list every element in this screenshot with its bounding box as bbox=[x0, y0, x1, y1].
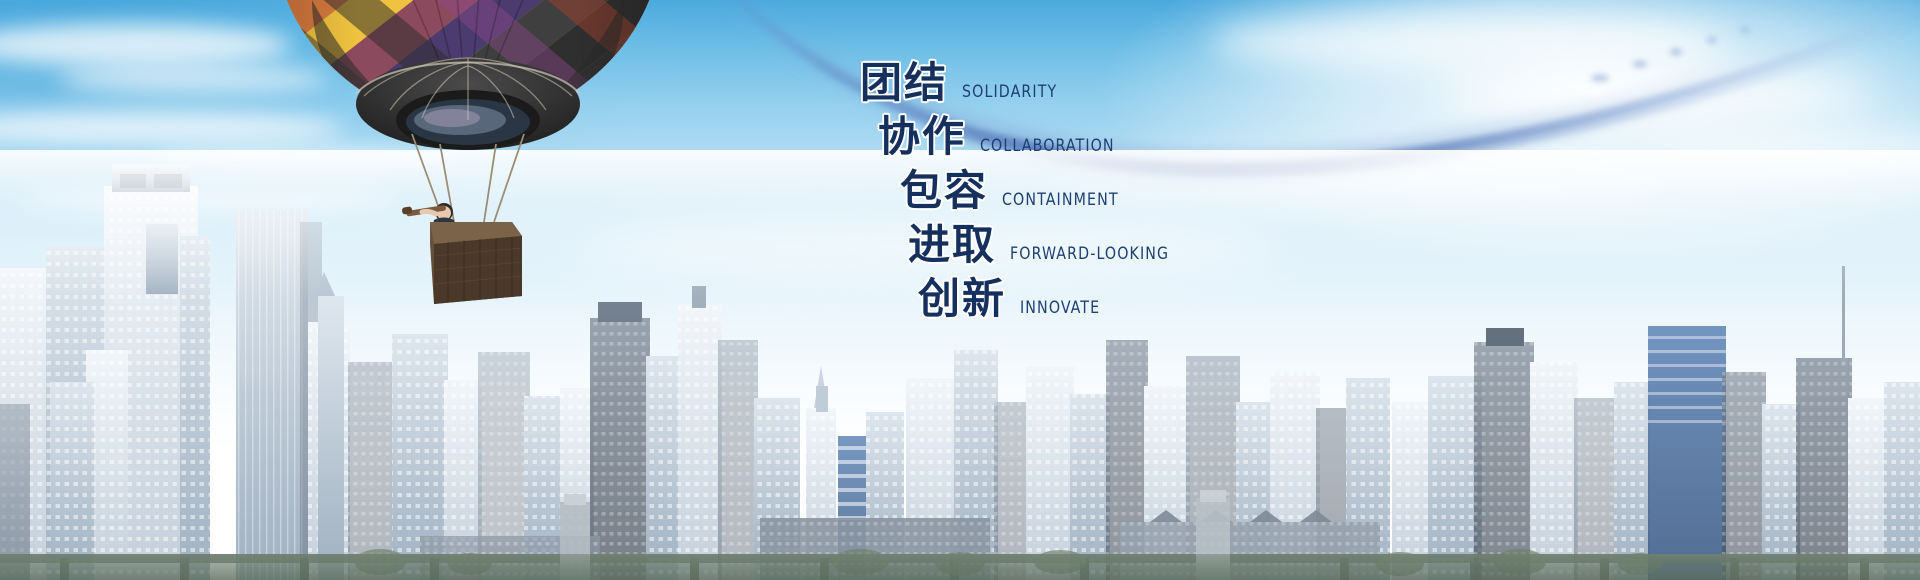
balloon-basket bbox=[430, 222, 522, 304]
slogan-en: INNOVATE bbox=[1020, 298, 1100, 318]
balloon-mouth bbox=[356, 58, 580, 150]
slogan-en: CONTAINMENT bbox=[1002, 190, 1119, 210]
slogan-en: SOLIDARITY bbox=[962, 82, 1057, 102]
slogan-row: 创新 INNOVATE bbox=[918, 278, 1560, 320]
culture-banner: 团结 SOLIDARITY 协作 COLLABORATION 包容 CONTAI… bbox=[0, 0, 1920, 580]
slogan-row: 协作 COLLABORATION bbox=[878, 116, 1560, 158]
slogan-cn: 协作 bbox=[878, 116, 966, 158]
slogan-cn: 创新 bbox=[918, 278, 1006, 320]
slogan-en: COLLABORATION bbox=[980, 136, 1115, 156]
slogan-cn: 团结 bbox=[860, 62, 948, 104]
hot-air-balloon bbox=[272, 0, 664, 324]
slogan-row: 包容 CONTAINMENT bbox=[900, 170, 1560, 212]
slogan-cn: 包容 bbox=[900, 170, 988, 212]
slogan-row: 进取 FORWARD-LOOKING bbox=[908, 224, 1560, 266]
slogan-cn: 进取 bbox=[908, 224, 996, 266]
slogan-block: 团结 SOLIDARITY 协作 COLLABORATION 包容 CONTAI… bbox=[860, 62, 1560, 332]
ground-strip bbox=[0, 554, 1920, 580]
slogan-en: FORWARD-LOOKING bbox=[1010, 244, 1169, 264]
slogan-row: 团结 SOLIDARITY bbox=[860, 62, 1560, 104]
